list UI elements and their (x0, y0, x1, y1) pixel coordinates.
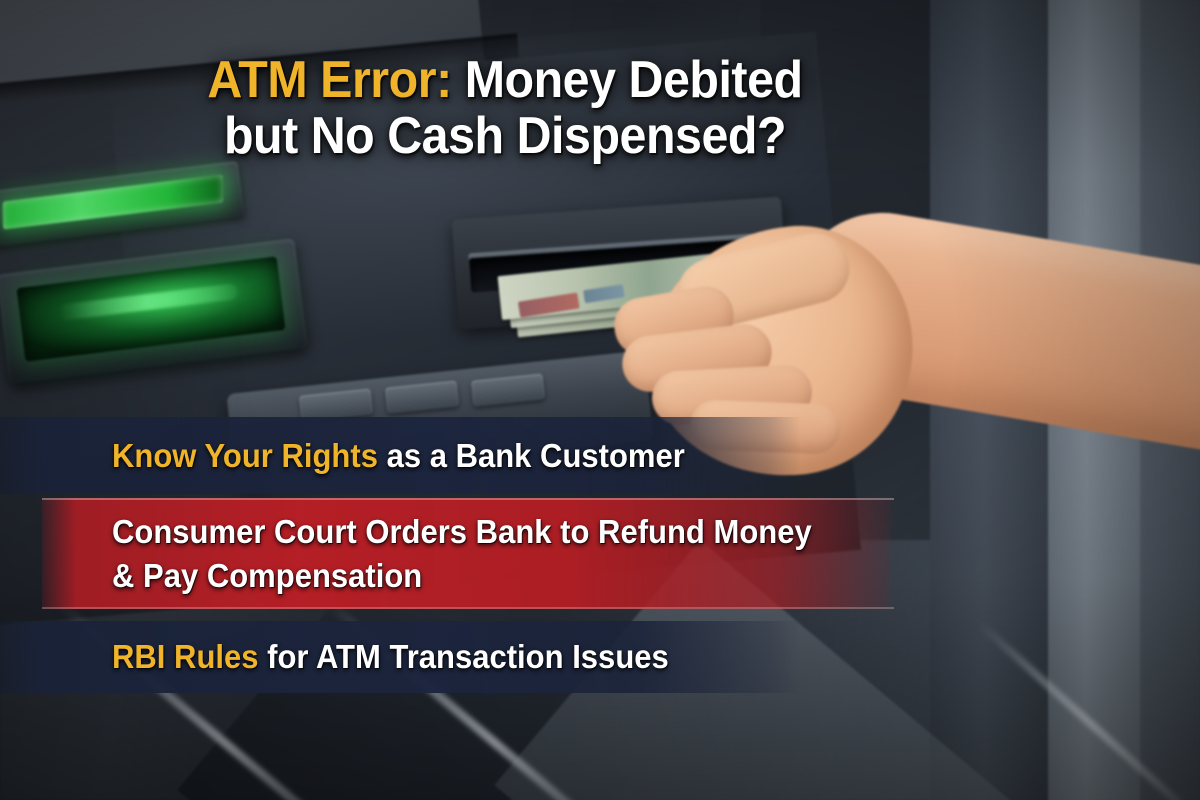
banner-white-text: as a Bank Customer (378, 437, 685, 474)
banner-gold-text: RBI Rules (112, 638, 259, 675)
banner-gold-text: Know Your Rights (112, 437, 378, 474)
banner-consumer-court-refund: Consumer Court Orders Bank to Refund Mon… (42, 498, 894, 609)
banner-know-your-rights: Know Your Rights as a Bank Customer (0, 417, 800, 494)
atm-error-infographic: ATM Error: Money Debited but No Cash Dis… (0, 0, 1200, 800)
banner-text: Know Your Rights as a Bank Customer (112, 437, 685, 475)
headline-gold-part: ATM Error: (207, 51, 451, 109)
banner-rbi-rules: RBI Rules for ATM Transaction Issues (0, 621, 800, 693)
headline-white-part: Money Debited (452, 51, 803, 109)
banner-text: Consumer Court Orders Bank to Refund Mon… (112, 510, 812, 597)
banner-text: RBI Rules for ATM Transaction Issues (112, 638, 669, 676)
page-title: ATM Error: Money Debited but No Cash Dis… (35, 52, 974, 164)
banner-white-text: for ATM Transaction Issues (259, 638, 669, 675)
headline-line-2: but No Cash Dispensed? (35, 108, 974, 164)
